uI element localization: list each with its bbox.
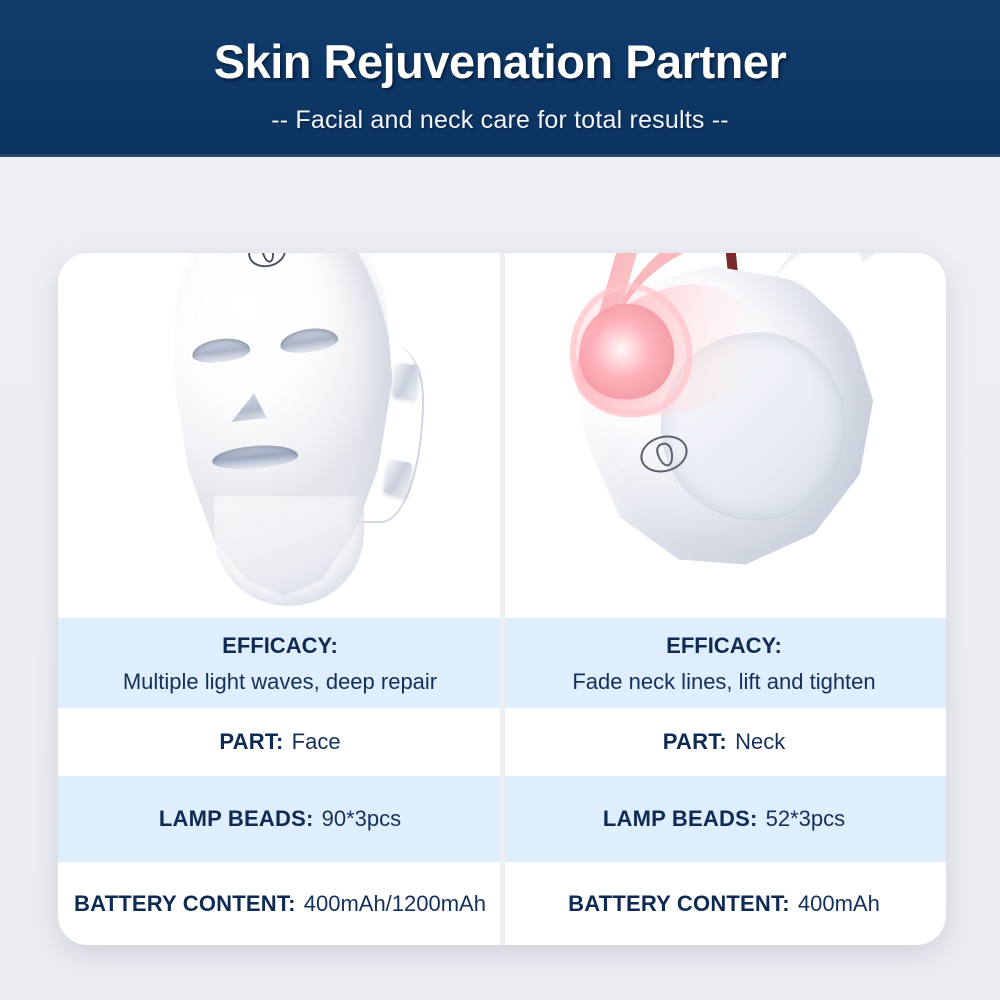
- spec-value-part: Face: [292, 729, 341, 754]
- neck-device-illustration: [544, 253, 904, 606]
- product-column-neck-device: EFFICACY: Fade neck lines, lift and tigh…: [502, 253, 946, 945]
- spec-label-lamp-beads: LAMP BEADS:: [159, 806, 314, 831]
- spec-label-battery-content: BATTERY CONTENT:: [74, 891, 296, 916]
- spec-row-efficacy: EFFICACY: Fade neck lines, lift and tigh…: [502, 618, 946, 708]
- mask-chin-panel: [214, 496, 364, 606]
- spec-row-part: PART: Face: [58, 708, 502, 776]
- spec-value-lamp-beads: 52*3pcs: [766, 806, 846, 831]
- spec-list-neck-device: EFFICACY: Fade neck lines, lift and tigh…: [502, 618, 946, 945]
- spec-label-efficacy: EFFICACY:: [222, 633, 338, 659]
- spec-row-efficacy: EFFICACY: Multiple light waves, deep rep…: [58, 618, 502, 708]
- spec-value-battery-content: 400mAh/1200mAh: [304, 891, 486, 916]
- face-mask-illustration: [130, 253, 430, 616]
- page-subtitle: -- Facial and neck care for total result…: [0, 106, 1000, 135]
- spec-list-face-mask: EFFICACY: Multiple light waves, deep rep…: [58, 618, 502, 945]
- spec-row-lamp-beads: LAMP BEADS: 52*3pcs: [502, 776, 946, 862]
- spec-label-part: PART:: [663, 729, 727, 754]
- product-infographic-page: Skin Rejuvenation Partner -- Facial and …: [0, 0, 1000, 1000]
- spec-label-lamp-beads: LAMP BEADS:: [603, 806, 758, 831]
- spec-value-part: Neck: [735, 729, 785, 754]
- spec-label-efficacy: EFFICACY:: [666, 633, 782, 659]
- spec-value-battery-content: 400mAh: [798, 891, 880, 916]
- spec-value-lamp-beads: 90*3pcs: [322, 806, 402, 831]
- spec-label-part: PART:: [219, 729, 283, 754]
- product-comparison-card: EFFICACY: Multiple light waves, deep rep…: [58, 253, 946, 945]
- spec-row-part: PART: Neck: [502, 708, 946, 776]
- product-photo-face-mask: [58, 253, 502, 618]
- spec-row-lamp-beads: LAMP BEADS: 90*3pcs: [58, 776, 502, 862]
- spec-row-battery-content: BATTERY CONTENT: 400mAh: [502, 862, 946, 945]
- column-divider: [500, 253, 505, 945]
- page-title: Skin Rejuvenation Partner: [0, 34, 1000, 89]
- product-column-face-mask: EFFICACY: Multiple light waves, deep rep…: [58, 253, 502, 945]
- spec-value-efficacy: Multiple light waves, deep repair: [123, 669, 437, 695]
- product-photo-neck-device: [502, 253, 946, 618]
- spec-label-battery-content: BATTERY CONTENT:: [568, 891, 790, 916]
- spec-row-battery-content: BATTERY CONTENT: 400mAh/1200mAh: [58, 862, 502, 945]
- mask-strap-clip: [392, 363, 419, 399]
- spec-value-efficacy: Fade neck lines, lift and tighten: [572, 669, 875, 695]
- header-banner: Skin Rejuvenation Partner -- Facial and …: [0, 0, 1000, 157]
